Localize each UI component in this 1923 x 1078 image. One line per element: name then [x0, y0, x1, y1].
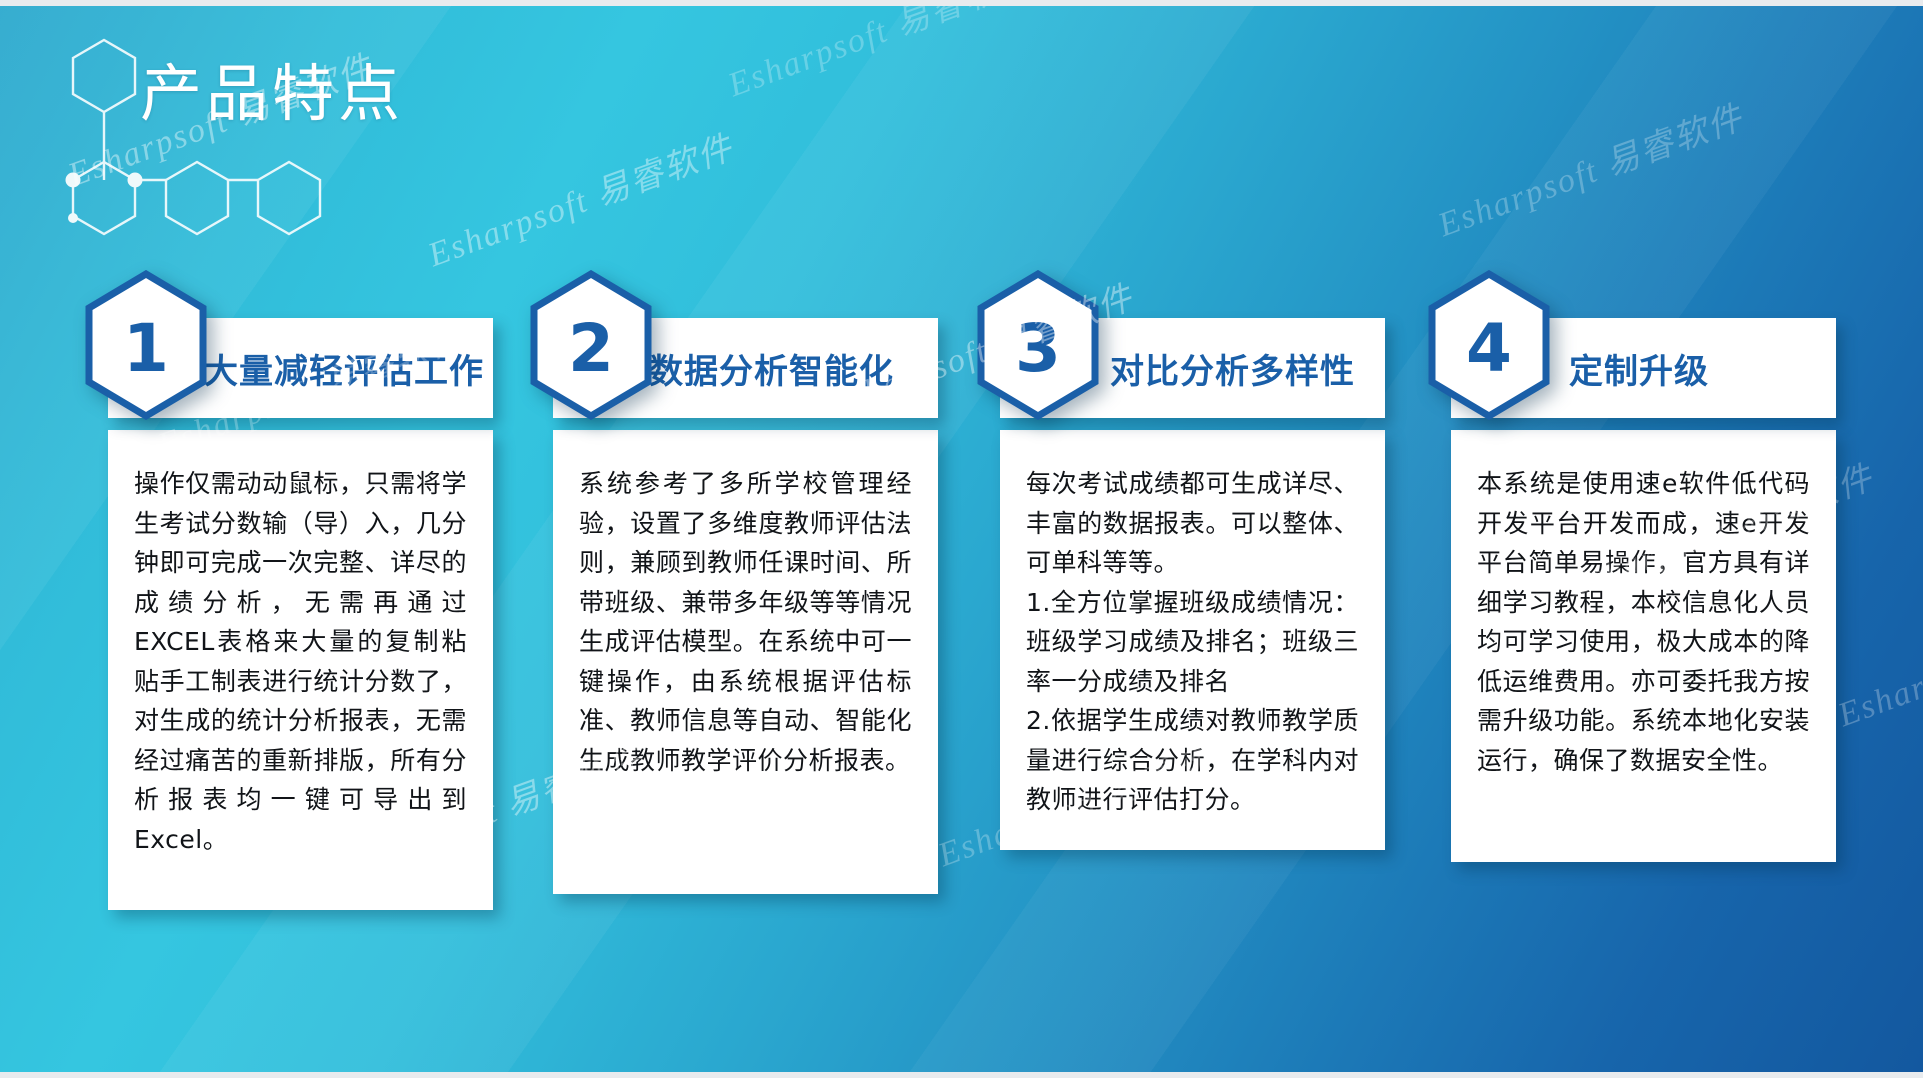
feature-card-4-number: 4 [1427, 270, 1551, 420]
feature-card-1-body: 操作仅需动动鼠标，只需将学生考试分数输（导）入，几分钟即可完成一次完整、详尽的成… [108, 430, 493, 910]
hexagon-badge-1: 1 [84, 270, 208, 420]
feature-card-2-heading: 数据分析智能化 [649, 318, 928, 418]
feature-card-3: 3 对比分析多样性 每次考试成绩都可生成详尽、丰富的数据报表。可以整体、可单科等… [1000, 318, 1385, 850]
feature-card-4: 4 定制升级 本系统是使用速e软件低代码开发平台开发而成，速e开发平台简单易操作… [1451, 318, 1836, 862]
feature-card-list: 1 大量减轻评估工作 操作仅需动动鼠标，只需将学生考试分数输（导）入，几分钟即可… [0, 0, 1923, 1078]
feature-card-1: 1 大量减轻评估工作 操作仅需动动鼠标，只需将学生考试分数输（导）入，几分钟即可… [108, 318, 493, 910]
slide-canvas: 产品特点 Esharpsoft 易睿软件Esharpsoft 易睿软件Eshar… [0, 0, 1923, 1078]
feature-card-3-heading: 对比分析多样性 [1096, 318, 1375, 418]
hexagon-badge-4: 4 [1427, 270, 1551, 420]
feature-card-3-body: 每次考试成绩都可生成详尽、丰富的数据报表。可以整体、可单科等等。1.全方位掌握班… [1000, 430, 1385, 850]
feature-card-2-body: 系统参考了多所学校管理经验，设置了多维度教师评估法则，兼顾到教师任课时间、所带班… [553, 430, 938, 894]
feature-card-3-number: 3 [976, 270, 1100, 420]
hexagon-badge-3: 3 [976, 270, 1100, 420]
feature-card-2: 2 数据分析智能化 系统参考了多所学校管理经验，设置了多维度教师评估法则，兼顾到… [553, 318, 938, 894]
feature-card-2-header: 2 数据分析智能化 [553, 318, 938, 418]
feature-card-1-number: 1 [84, 270, 208, 420]
feature-card-4-header: 4 定制升级 [1451, 318, 1836, 418]
feature-card-4-heading: 定制升级 [1547, 318, 1826, 418]
bottom-edge [0, 1072, 1923, 1078]
feature-card-3-header: 3 对比分析多样性 [1000, 318, 1385, 418]
hexagon-badge-2: 2 [529, 270, 653, 420]
feature-card-2-number: 2 [529, 270, 653, 420]
feature-card-1-heading: 大量减轻评估工作 [204, 318, 483, 418]
feature-card-4-body: 本系统是使用速e软件低代码开发平台开发而成，速e开发平台简单易操作，官方具有详细… [1451, 430, 1836, 862]
feature-card-1-header: 1 大量减轻评估工作 [108, 318, 493, 418]
